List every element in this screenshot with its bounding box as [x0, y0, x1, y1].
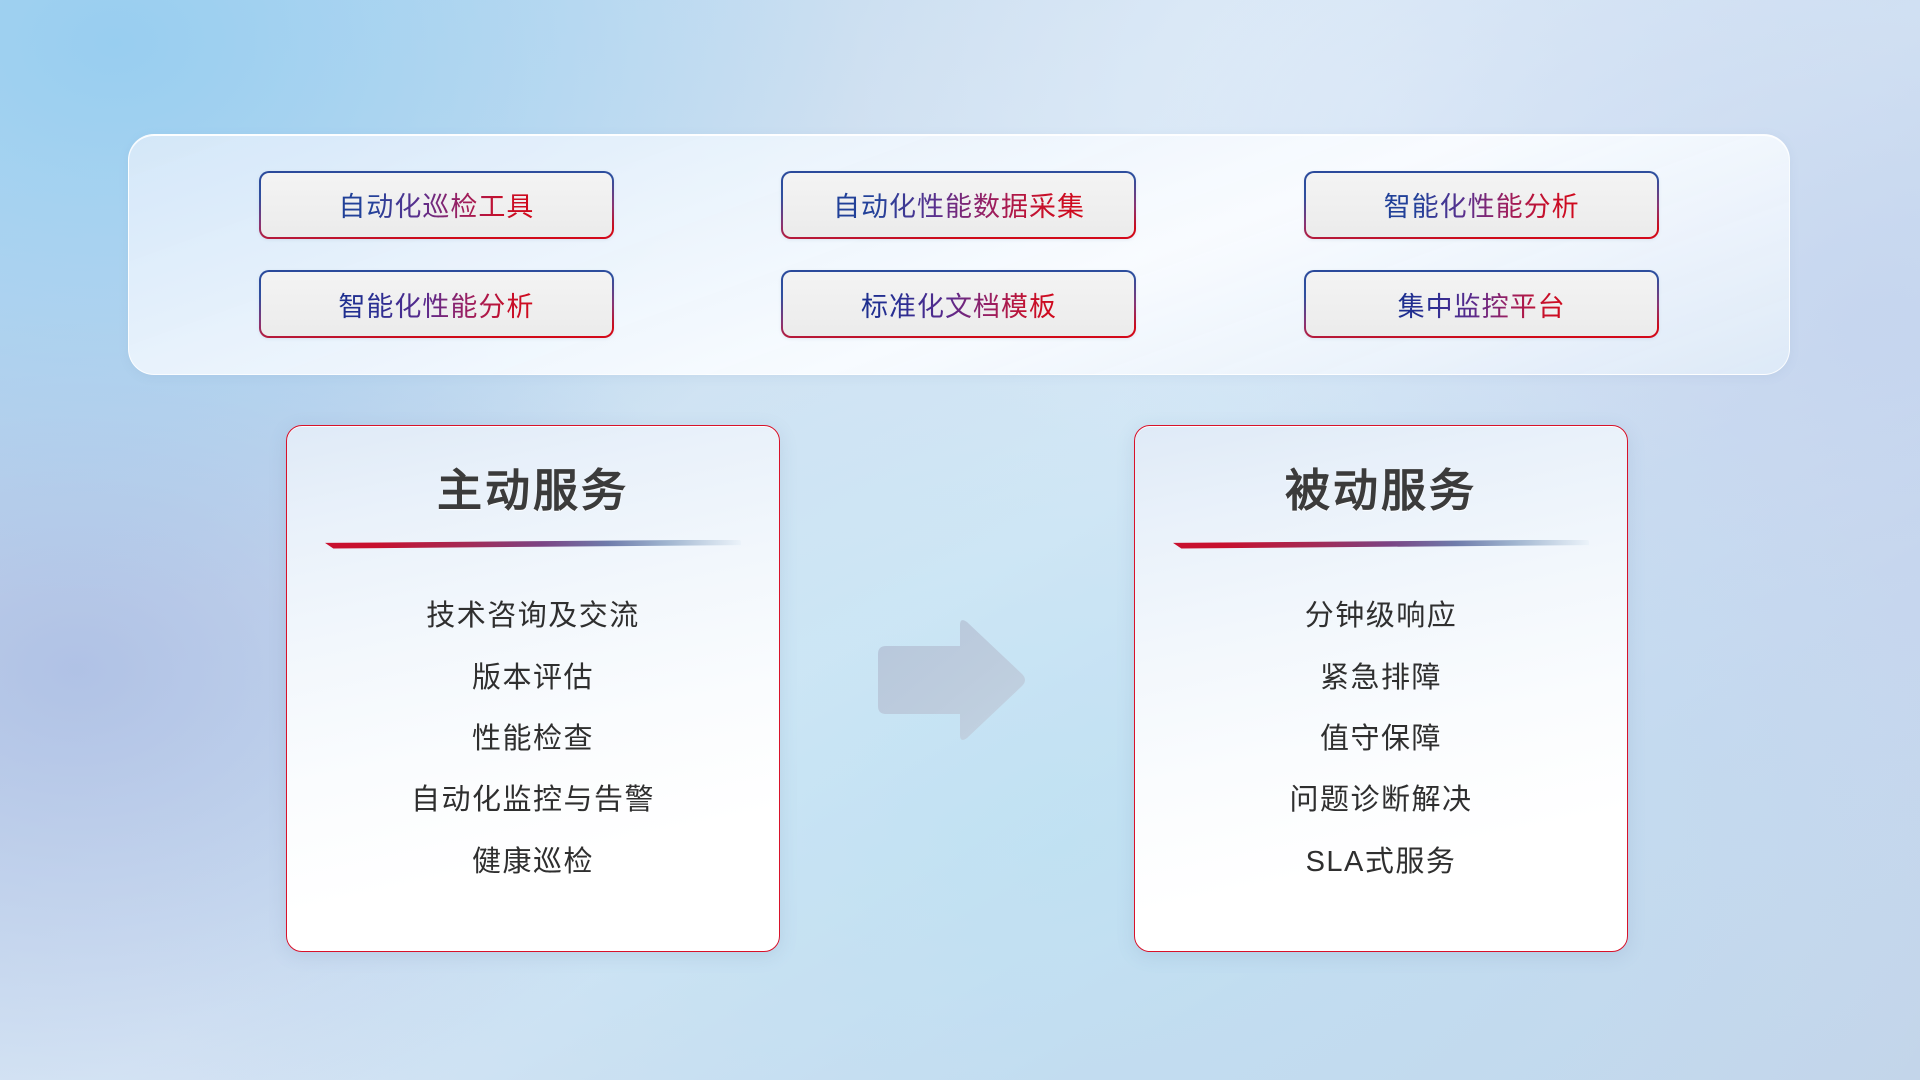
capability-chip-label: 自动化巡检工具 [338, 185, 534, 224]
arrow-right-icon [874, 618, 1028, 743]
list-item: 性能检查 [317, 709, 749, 770]
list-item: SLA式服务 [1165, 832, 1597, 893]
capability-chip[interactable]: 智能化性能分析 [259, 270, 614, 338]
capability-chip[interactable]: 自动化巡检工具 [259, 171, 614, 239]
capability-panel: 自动化巡检工具 自动化性能数据采集 智能化性能分析 智能化性能分析 标准化文档模… [128, 134, 1790, 375]
capability-chip[interactable]: 自动化性能数据采集 [781, 171, 1136, 239]
list-item: 自动化监控与告警 [317, 770, 749, 831]
list-item: 版本评估 [317, 648, 749, 709]
capability-chip[interactable]: 智能化性能分析 [1304, 171, 1659, 239]
capability-chip-label: 自动化性能数据采集 [833, 185, 1085, 224]
capability-chip-label: 智能化性能分析 [338, 285, 534, 324]
divider-bar [1173, 540, 1589, 549]
capability-chip-label: 标准化文档模板 [861, 285, 1057, 324]
capability-chip-label: 智能化性能分析 [1384, 185, 1580, 224]
capability-chip-label: 集中监控平台 [1398, 285, 1566, 324]
slide-canvas: 自动化巡检工具 自动化性能数据采集 智能化性能分析 智能化性能分析 标准化文档模… [0, 0, 1920, 1080]
list-item: 健康巡检 [317, 832, 749, 893]
capability-chip[interactable]: 标准化文档模板 [781, 270, 1136, 338]
title-divider [325, 540, 741, 549]
list-item: 分钟级响应 [1165, 586, 1597, 647]
service-list: 分钟级响应 紧急排障 值守保障 问题诊断解决 SLA式服务 [1165, 555, 1597, 926]
list-item: 值守保障 [1165, 709, 1597, 770]
service-card-proactive: 主动服务 技术咨询及交流 版本评估 性能检查 自动化监控与告警 健康巡检 [286, 425, 780, 952]
divider-bar [325, 540, 741, 549]
service-list: 技术咨询及交流 版本评估 性能检查 自动化监控与告警 健康巡检 [317, 555, 749, 926]
list-item: 技术咨询及交流 [317, 586, 749, 647]
card-title: 主动服务 [317, 466, 749, 516]
list-item: 问题诊断解决 [1165, 770, 1597, 831]
card-title: 被动服务 [1165, 466, 1597, 516]
title-divider [1173, 540, 1589, 549]
list-item: 紧急排障 [1165, 648, 1597, 709]
capability-chip[interactable]: 集中监控平台 [1304, 270, 1659, 338]
service-card-reactive: 被动服务 分钟级响应 紧急排障 值守保障 问题诊断解决 SLA式服务 [1134, 425, 1628, 952]
